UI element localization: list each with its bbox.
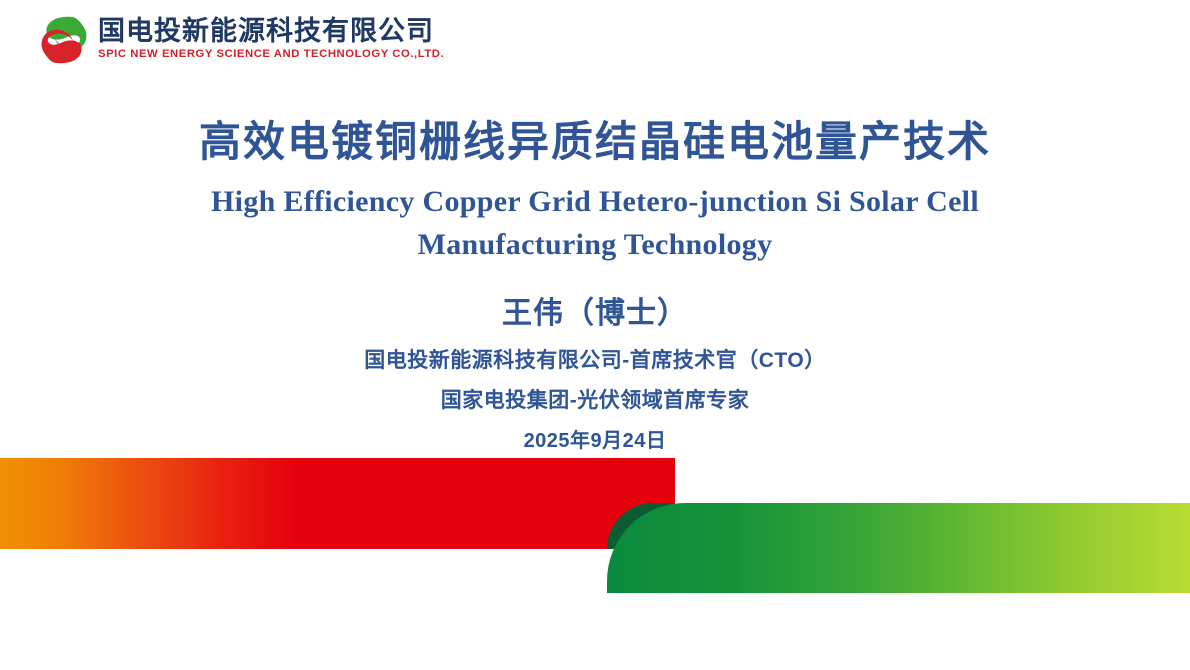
footer-green-gradient-bar	[607, 503, 1190, 593]
presenter-role-secondary: 国家电投集团-光伏领域首席专家	[0, 388, 1190, 414]
logo-company-name-en: SPIC NEW ENERGY SCIENCE AND TECHNOLOGY C…	[98, 45, 444, 63]
presenter-role-primary: 国电投新能源科技有限公司-首席技术官（CTO）	[0, 348, 1190, 374]
spic-swirl-logo-icon	[38, 12, 90, 68]
logo-text-block: 国电投新能源科技有限公司 SPIC NEW ENERGY SCIENCE AND…	[98, 17, 444, 63]
presentation-date: 2025年9月24日	[0, 429, 1190, 454]
slide-title-cn: 高效电镀铜栅线异质结晶硅电池量产技术	[0, 108, 1190, 169]
slide-title-en-line2: Manufacturing Technology	[0, 224, 1190, 267]
company-logo-block: 国电投新能源科技有限公司 SPIC NEW ENERGY SCIENCE AND…	[38, 12, 444, 68]
presenter-name: 王伟（博士）	[0, 296, 1190, 332]
logo-company-name-cn: 国电投新能源科技有限公司	[98, 17, 444, 45]
slide-title-en: High Efficiency Copper Grid Hetero-junct…	[0, 181, 1190, 266]
slide-title-en-line1: High Efficiency Copper Grid Hetero-junct…	[0, 181, 1190, 224]
presenter-block: 王伟（博士） 国电投新能源科技有限公司-首席技术官（CTO） 国家电投集团-光伏…	[0, 296, 1190, 454]
title-slide: 国电投新能源科技有限公司 SPIC NEW ENERGY SCIENCE AND…	[0, 0, 1190, 670]
footer-red-gradient-bar	[0, 458, 675, 549]
